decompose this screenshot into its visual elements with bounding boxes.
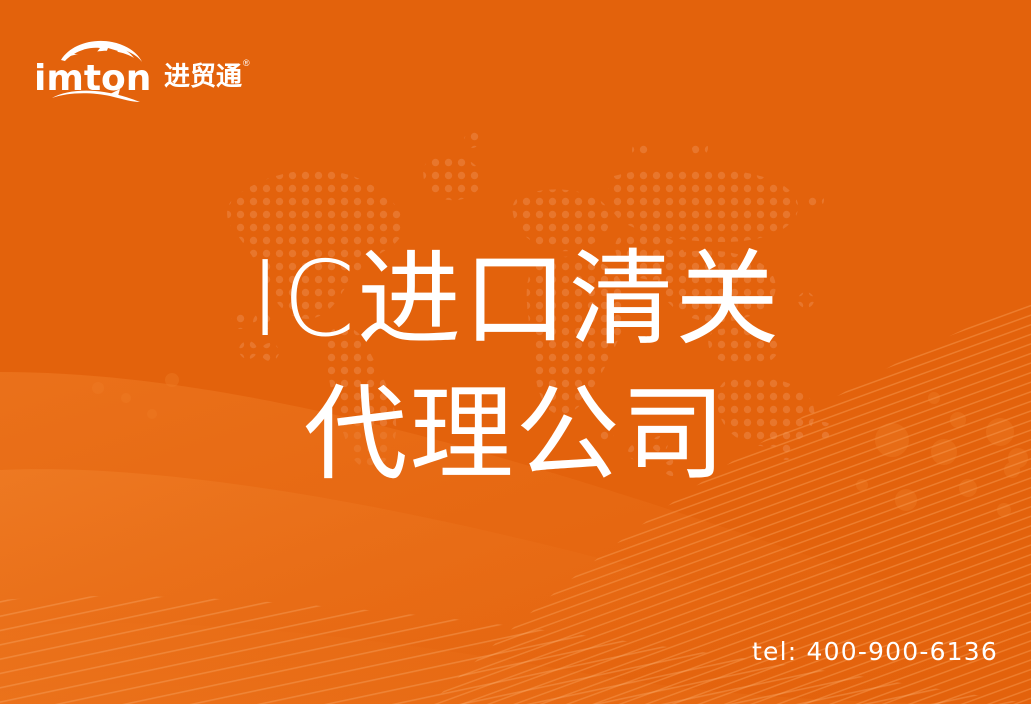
brand-logo[interactable]: imton 进贸通 ®	[34, 34, 264, 102]
globe-arc-and-fish-icon: imton	[34, 36, 162, 102]
headline-line-1: IC进口清关	[0, 232, 1031, 367]
page-title: IC进口清关 代理公司	[0, 232, 1031, 502]
promo-banner: imton 进贸通 ® IC进口清关 代理公司 tel: 400-900-613…	[0, 0, 1031, 704]
headline-line-2: 代理公司	[0, 367, 1031, 502]
contact-phone[interactable]: tel: 400-900-6136	[752, 637, 998, 666]
registered-trademark-icon: ®	[243, 59, 250, 68]
logo-chinese-name: 进贸通	[164, 64, 242, 90]
